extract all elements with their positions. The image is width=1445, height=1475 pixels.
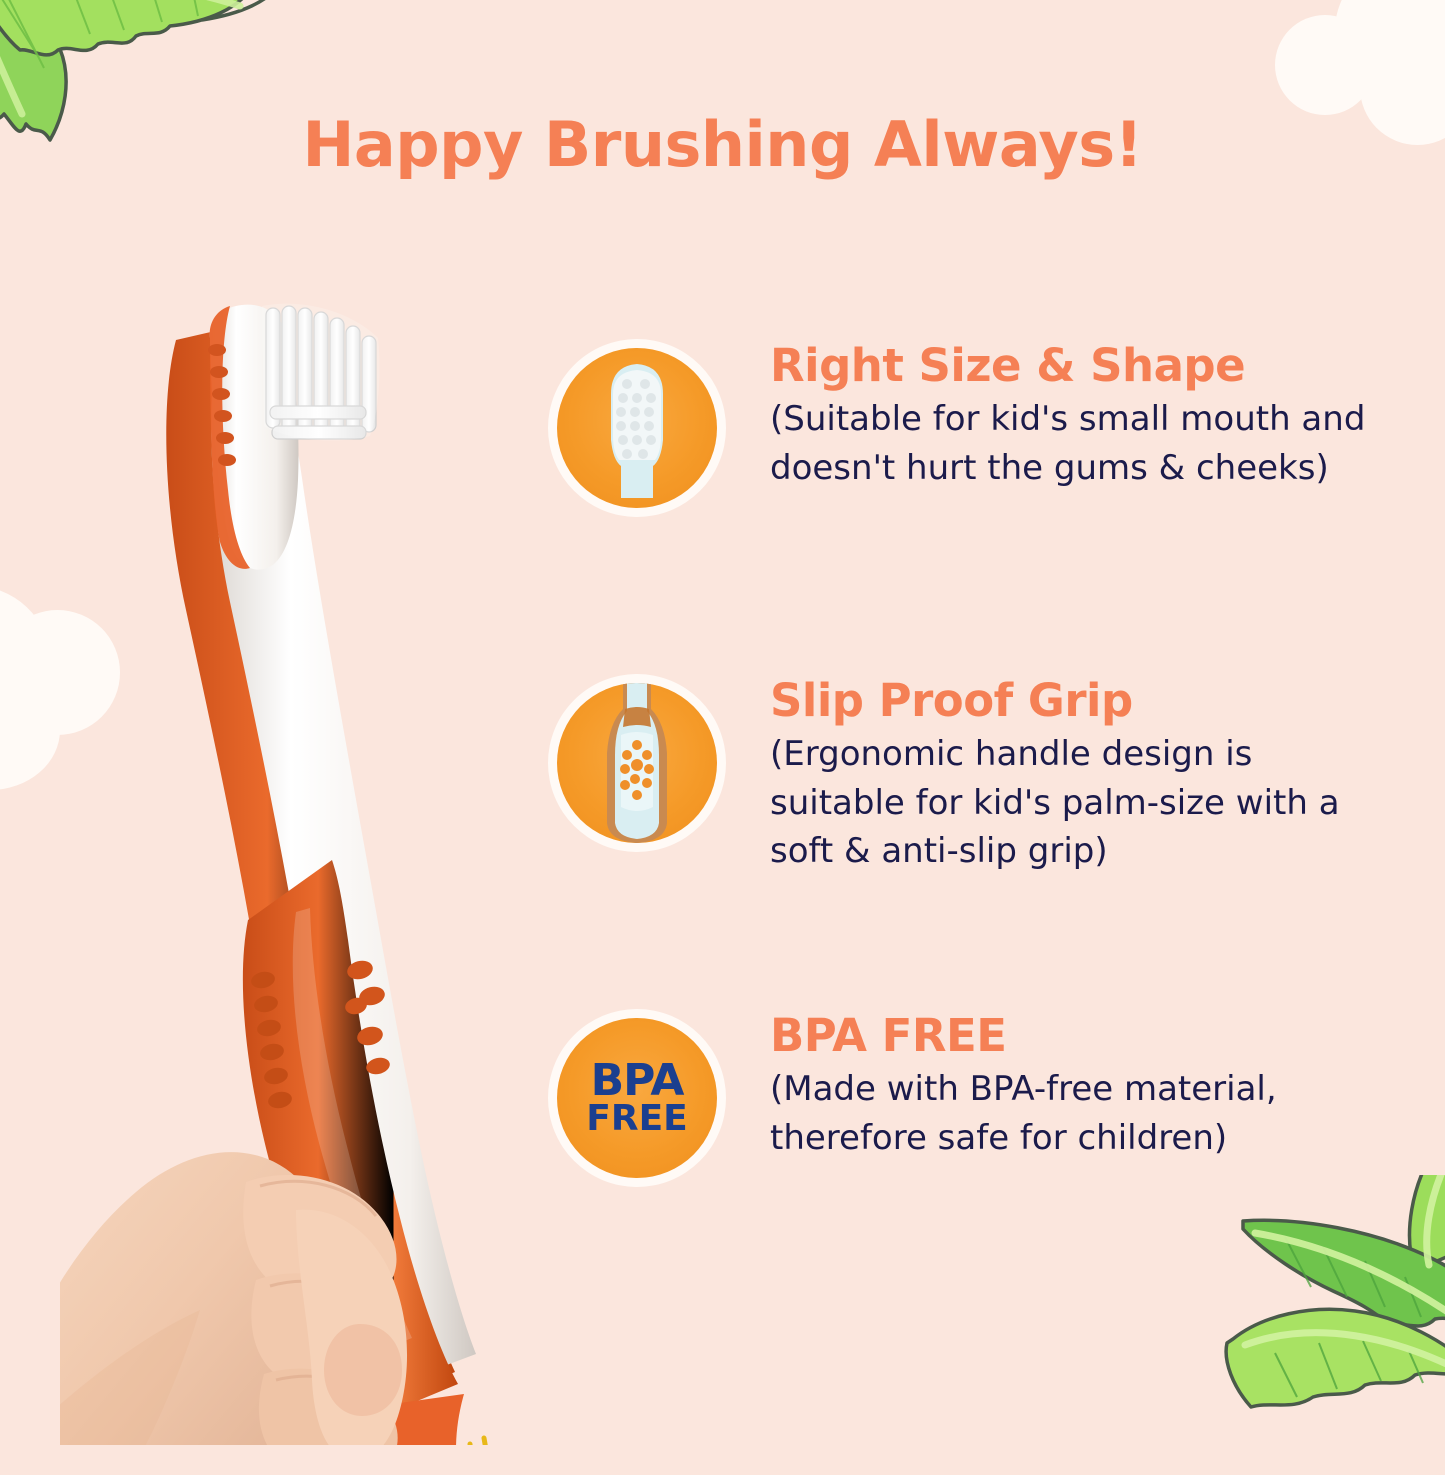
- feature-text-block: Right Size & Shape (Suitable for kid's s…: [770, 335, 1388, 492]
- bpa-line-1: BPA: [586, 1061, 688, 1101]
- feature-description: (Suitable for kid's small mouth and does…: [770, 395, 1370, 492]
- feature-title: BPA FREE: [770, 1011, 1388, 1061]
- feature-text-block: Slip Proof Grip (Ergonomic handle design…: [770, 670, 1388, 875]
- feature-item-bpa-free: BPA FREE BPA FREE (Made with BPA-free ma…: [548, 1005, 1388, 1305]
- page-title: Happy Brushing Always!: [0, 108, 1445, 181]
- feature-text-block: BPA FREE (Made with BPA-free material, t…: [770, 1005, 1388, 1162]
- brush-head-icon: [548, 339, 726, 517]
- feature-list: Right Size & Shape (Suitable for kid's s…: [548, 335, 1388, 1305]
- handle-grip-glyph: [557, 683, 717, 843]
- product-image-toothbrush-in-hand: [60, 280, 530, 1445]
- feature-item-slip-proof-grip: Slip Proof Grip (Ergonomic handle design…: [548, 670, 1388, 970]
- feature-title: Slip Proof Grip: [770, 676, 1388, 726]
- brush-head-glyph: [557, 348, 717, 508]
- handle-grip-icon: [548, 674, 726, 852]
- feature-item-right-size-shape: Right Size & Shape (Suitable for kid's s…: [548, 335, 1388, 635]
- bpa-line-2: FREE: [586, 1102, 688, 1135]
- feature-description: (Ergonomic handle design is suitable for…: [770, 730, 1370, 875]
- feature-description: (Made with BPA-free material, therefore …: [770, 1065, 1370, 1162]
- bpa-free-label: BPA FREE: [586, 1061, 688, 1135]
- feature-title: Right Size & Shape: [770, 341, 1388, 391]
- bpa-free-icon: BPA FREE: [548, 1009, 726, 1187]
